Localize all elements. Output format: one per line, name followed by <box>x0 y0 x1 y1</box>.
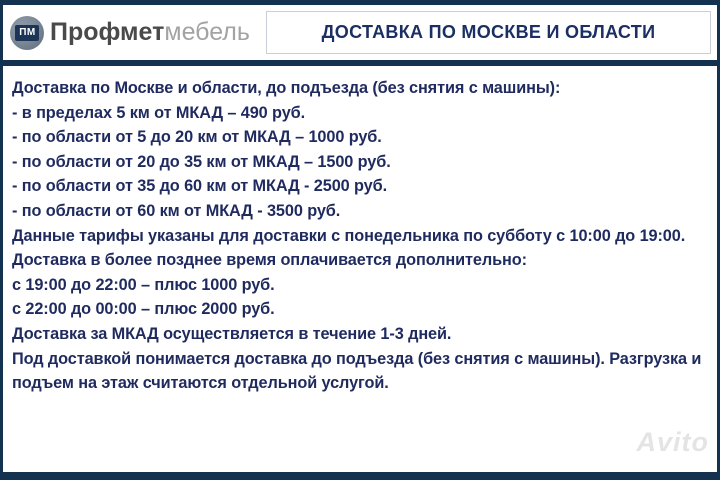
brand-logo: ПМ Профметмебель <box>3 5 250 60</box>
terms-line: Данные тарифы указаны для доставки с пон… <box>12 224 711 249</box>
terms-line: - по области от 35 до 60 км от МКАД - 25… <box>12 174 711 199</box>
avito-watermark: Avito <box>637 427 710 458</box>
brand-name-primary: Профмет <box>50 18 164 46</box>
terms-line: Доставка в более позднее время оплачивае… <box>12 248 711 273</box>
terms-line: с 19:00 до 22:00 – плюс 1000 руб. <box>12 273 711 298</box>
terms-line: - в пределах 5 км от МКАД – 490 руб. <box>12 101 711 126</box>
terms-line: - по области от 20 до 35 км от МКАД – 15… <box>12 150 711 175</box>
circle-pm-logo-icon: ПМ <box>10 16 44 50</box>
card-header: ПМ Профметмебель ДОСТАВКА ПО МОСКВЕ И ОБ… <box>3 5 717 60</box>
logo-monogram: ПМ <box>15 25 39 41</box>
header-title-box: ДОСТАВКА ПО МОСКВЕ И ОБЛАСТИ <box>266 11 711 54</box>
terms-line: - по области от 60 км от МКАД - 3500 руб… <box>12 199 711 224</box>
delivery-info-card: ПМ Профметмебель ДОСТАВКА ПО МОСКВЕ И ОБ… <box>0 0 720 480</box>
delivery-terms-body: Доставка по Москве и области, до подъезд… <box>3 66 717 396</box>
terms-line: Доставка по Москве и области, до подъезд… <box>12 76 711 101</box>
terms-line: Под доставкой понимается доставка до под… <box>12 347 711 396</box>
page-title: ДОСТАВКА ПО МОСКВЕ И ОБЛАСТИ <box>322 22 656 43</box>
terms-line: с 22:00 до 00:00 – плюс 2000 руб. <box>12 297 711 322</box>
brand-name: Профметмебель <box>50 20 250 45</box>
brand-name-secondary: мебель <box>164 18 250 46</box>
terms-line: Доставка за МКАД осуществляется в течени… <box>12 322 711 347</box>
terms-line: - по области от 5 до 20 км от МКАД – 100… <box>12 125 711 150</box>
